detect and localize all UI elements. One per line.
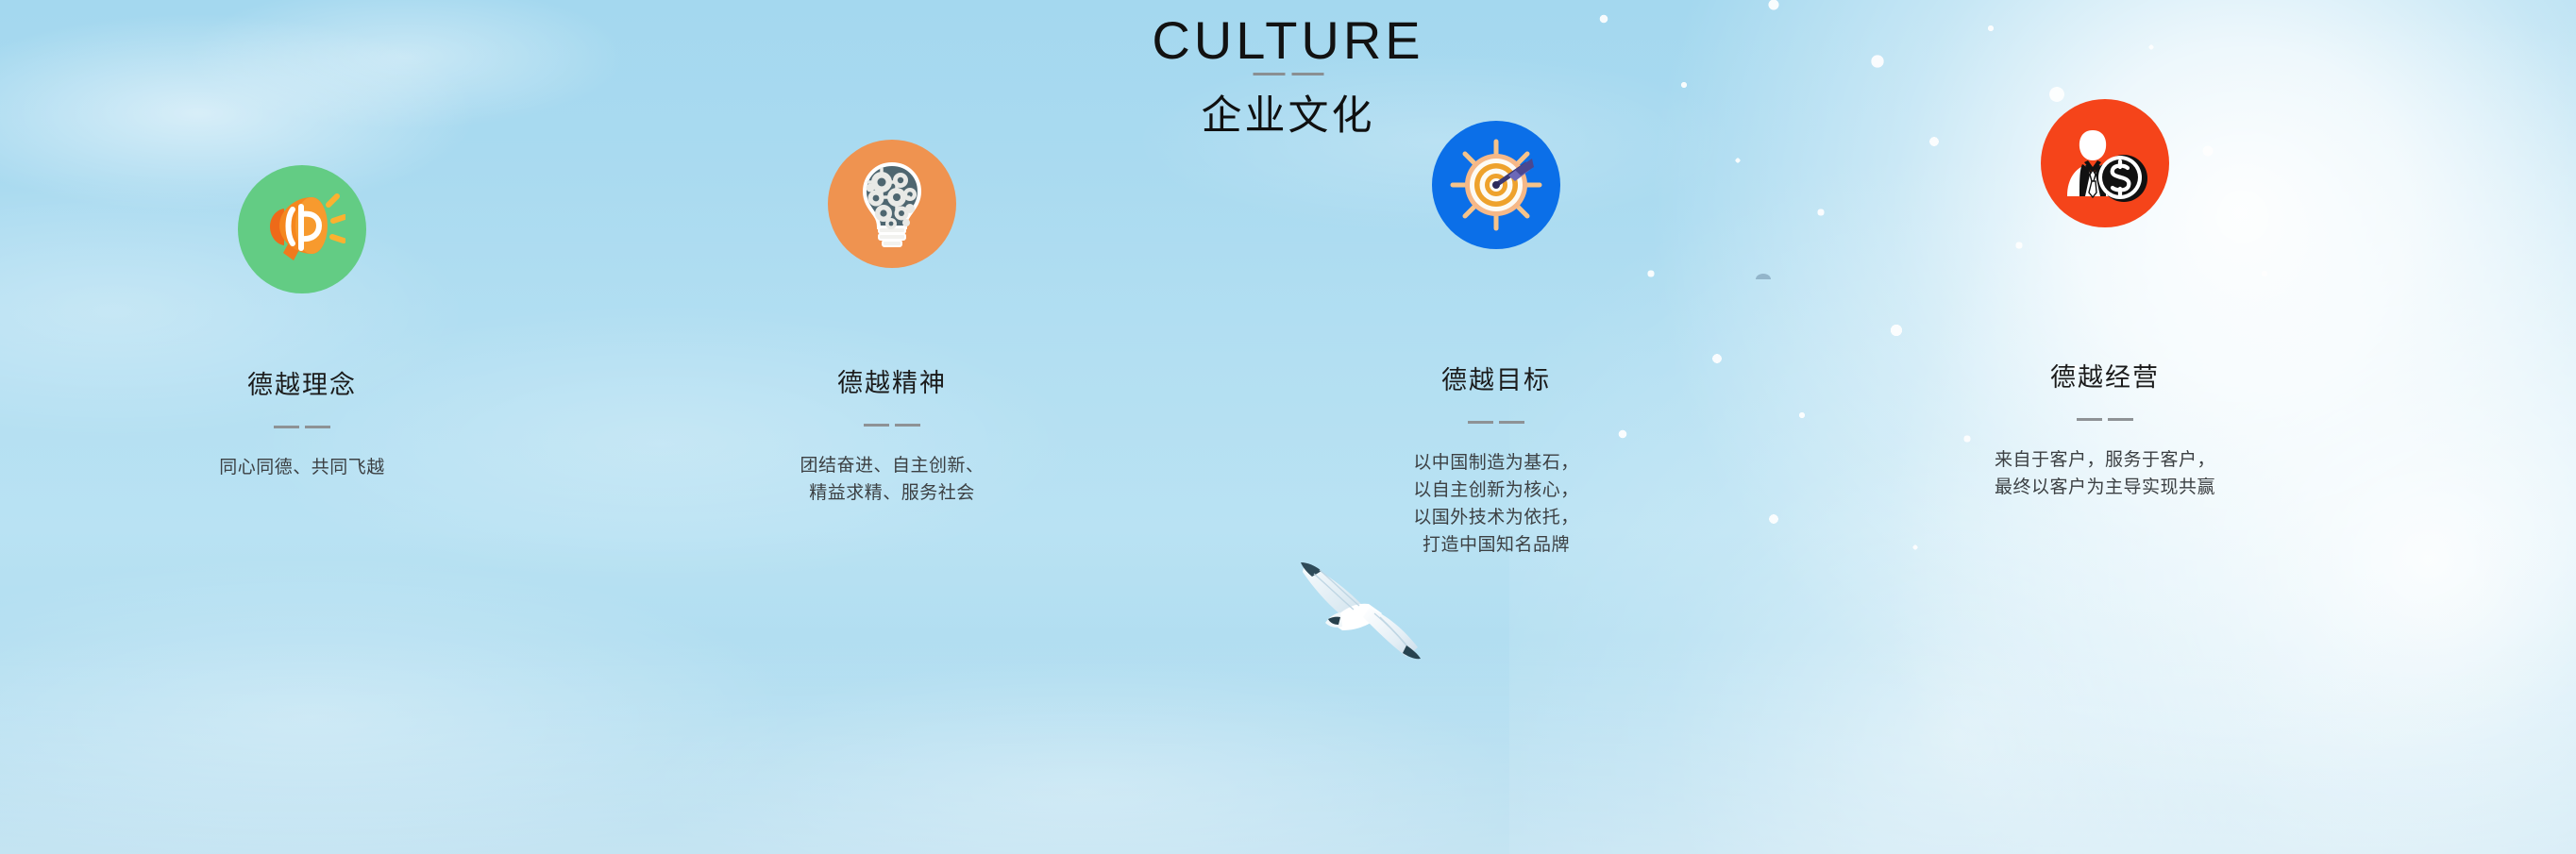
card-description: 团结奋进、自主创新、 精益求精、服务社会 [703, 452, 1081, 507]
card-divider [703, 424, 1081, 427]
culture-card[interactable]: 德越理念 同心同德、共同飞越 [113, 165, 491, 481]
card-description: 同心同德、共同飞越 [113, 454, 491, 481]
card-title: 德越精神 [703, 362, 1081, 399]
card-description: 以中国制造为基石， 以自主创新为核心， 以国外技术为依托， 打造中国知名品牌 [1307, 449, 1685, 559]
culture-card[interactable]: 德越经营 来自于客户，服务于客户， 最终以客户为主导实现共赢 [1888, 99, 2322, 501]
card-divider [113, 426, 491, 428]
card-title: 德越理念 [113, 364, 491, 401]
card-title: 德越经营 [1888, 357, 2322, 394]
card-title: 德越目标 [1307, 360, 1685, 396]
businessman-coin-icon [2041, 99, 2169, 227]
megaphone-icon [238, 165, 366, 293]
page-title-english: CULTURE [1152, 9, 1423, 71]
culture-card[interactable]: 德越精神 团结奋进、自主创新、 精益求精、服务社会 [703, 140, 1081, 507]
page-title-chinese: 企业文化 [1202, 83, 1375, 142]
title-divider [1253, 73, 1323, 75]
culture-card[interactable]: 德越目标 以中国制造为基石， 以自主创新为核心， 以国外技术为依托， 打造中国知… [1307, 121, 1685, 559]
card-divider [1888, 418, 2322, 421]
culture-banner: CULTURE 企业文化 [0, 0, 2576, 854]
card-divider [1307, 421, 1685, 424]
target-arrow-icon [1432, 121, 1560, 249]
lightbulb-gears-icon [828, 140, 956, 268]
card-description: 来自于客户，服务于客户， 最终以客户为主导实现共赢 [1888, 446, 2322, 501]
